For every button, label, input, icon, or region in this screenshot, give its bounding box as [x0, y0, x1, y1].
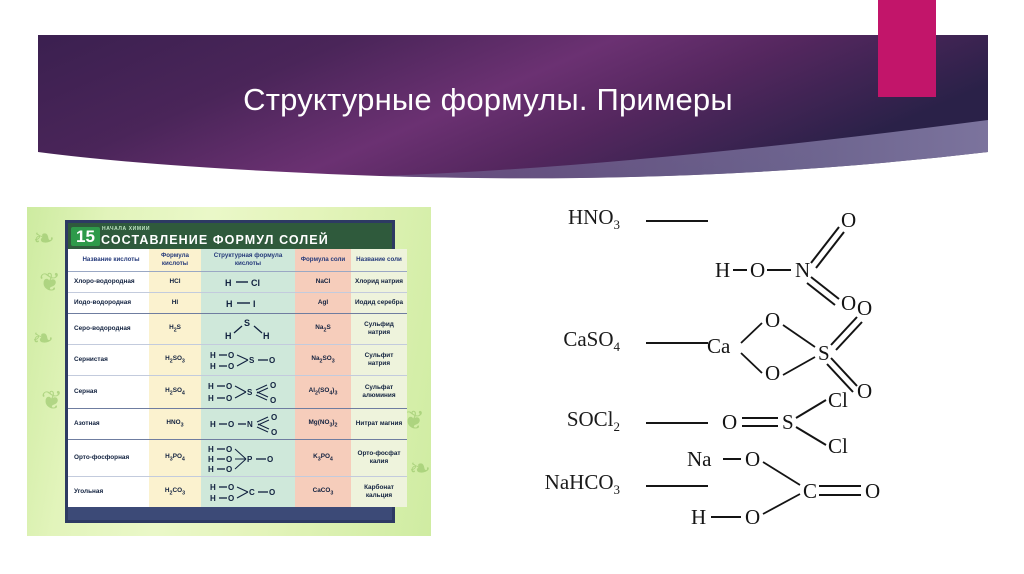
atom-o-lower: O — [745, 505, 760, 529]
vine-decoration-right: ❧ — [409, 455, 431, 481]
structure-h2so3-icon: H O H O S O — [204, 348, 292, 372]
svg-text:O: O — [269, 488, 275, 497]
cell-salt-formula: NaCl — [295, 271, 351, 292]
table-row: Хлоро-водородная HCl H Cl NaCl Хлорид на… — [68, 271, 407, 292]
cell-structural-formula: H O H O C O — [201, 476, 295, 507]
example-formula-hno3: HNO3 — [470, 205, 620, 233]
svg-text:H: H — [226, 299, 233, 309]
sodium-bicarbonate-structure: Na O H O C O — [685, 444, 900, 534]
svg-text:O: O — [226, 455, 232, 464]
table-header-row: Название кислоты Формула кислоты Структу… — [68, 249, 407, 271]
svg-text:O: O — [228, 494, 234, 503]
example-dash — [646, 220, 708, 222]
cell-acid-formula: HNO3 — [149, 408, 201, 439]
cell-salt-name: Сульфид натрия — [351, 313, 407, 344]
svg-text:O: O — [228, 362, 234, 371]
title-banner: Структурные формулы. Примеры — [0, 0, 1024, 185]
cell-acid-formula: H2SO3 — [149, 344, 201, 375]
structure-h2s-icon: S H H — [209, 317, 287, 341]
atom-s: S — [818, 341, 830, 365]
table-row: Орто-фосфорная H3PO4 H O H O H O — [68, 439, 407, 476]
cell-acid-name: Сернистая — [68, 344, 149, 375]
svg-text:H: H — [210, 351, 216, 360]
structure-hi-icon: H I — [209, 296, 287, 310]
atom-c: C — [803, 479, 817, 503]
salt-formula-table-image: ❧ ❦ ❧ ❦ ❦ ❧ 15 НАЧАЛА ХИМИИ СОСТАВЛЕНИЕ … — [27, 207, 431, 536]
svg-text:S: S — [244, 318, 250, 328]
atom-n: N — [795, 258, 810, 282]
svg-text:O: O — [228, 483, 234, 492]
svg-text:O: O — [226, 465, 232, 473]
cell-salt-name: Хлорид натрия — [351, 271, 407, 292]
atom-s: S — [782, 410, 794, 434]
structure-h3po4-icon: H O H O H O P — [204, 443, 292, 473]
cell-acid-name: Хлоро-водородная — [68, 271, 149, 292]
cell-structural-formula: S H H — [201, 313, 295, 344]
example-dash — [646, 342, 708, 344]
table-row: Серная H2SO4 H O H O S — [68, 375, 407, 408]
cell-acid-formula: H3PO4 — [149, 439, 201, 476]
column-header-structural: Структурная формула кислоты — [201, 249, 295, 271]
cell-acid-formula: HCl — [149, 271, 201, 292]
svg-text:O: O — [228, 420, 234, 429]
table-row: Угольная H2CO3 H O H O C — [68, 476, 407, 507]
cell-structural-formula: H O H O S O — [201, 344, 295, 375]
atom-o-top: O — [841, 208, 856, 232]
svg-text:H: H — [210, 483, 216, 492]
example-formula-socl2: SOCl2 — [470, 407, 620, 435]
cell-structural-formula: H O N O O — [201, 408, 295, 439]
structure-hcl-icon: H Cl — [209, 275, 287, 289]
cell-acid-name: Угольная — [68, 476, 149, 507]
vine-decoration-left: ❧ — [32, 325, 54, 351]
svg-text:C: C — [249, 488, 255, 497]
structure-hno3-icon: H O N O O — [204, 412, 292, 436]
cell-salt-formula: CaCO3 — [295, 476, 351, 507]
svg-text:H: H — [210, 494, 216, 503]
table-header-bar: 15 НАЧАЛА ХИМИИ СОСТАВЛЕНИЕ ФОРМУЛ СОЛЕЙ — [68, 223, 392, 249]
cell-structural-formula: H I — [201, 292, 295, 313]
svg-text:H: H — [208, 455, 214, 464]
svg-text:O: O — [270, 381, 276, 390]
cell-acid-name: Серная — [68, 375, 149, 408]
column-header-acid-name: Название кислоты — [68, 249, 149, 271]
atom-h: H — [715, 258, 730, 282]
svg-text:I: I — [253, 299, 256, 309]
cell-salt-formula: K3PO4 — [295, 439, 351, 476]
cell-salt-formula: Al2(SO4)3 — [295, 375, 351, 408]
vine-decoration-left: ❦ — [39, 269, 61, 295]
cell-acid-name: Орто-фосфорная — [68, 439, 149, 476]
table-number-badge: 15 — [71, 227, 100, 246]
svg-text:H: H — [208, 382, 214, 391]
svg-text:N: N — [247, 420, 253, 429]
svg-text:P: P — [247, 455, 253, 464]
atom-o: O — [750, 258, 765, 282]
table-title: СОСТАВЛЕНИЕ ФОРМУЛ СОЛЕЙ — [101, 233, 329, 247]
table-row: Азотная HNO3 H O N O — [68, 408, 407, 439]
svg-text:O: O — [226, 382, 232, 391]
cell-acid-formula: H2CO3 — [149, 476, 201, 507]
example-dash — [646, 422, 708, 424]
svg-text:H: H — [263, 331, 270, 341]
svg-text:H: H — [208, 465, 214, 473]
calcium-sulfate-structure: Ca O O S O O — [705, 295, 890, 405]
cell-salt-name: Иодид серебра — [351, 292, 407, 313]
svg-text:H: H — [208, 445, 214, 454]
atom-o-lower: O — [765, 361, 780, 385]
atom-o-upper: O — [745, 447, 760, 471]
cell-acid-formula: HI — [149, 292, 201, 313]
atom-o-right: O — [865, 479, 880, 503]
structural-formula-examples: HNO3 H O N O O CaSO4 — [470, 205, 1000, 535]
cell-acid-name: Иодо-водородная — [68, 292, 149, 313]
cell-structural-formula: H O H O H O P — [201, 439, 295, 476]
acids-salts-table: Название кислоты Формула кислоты Структу… — [68, 249, 407, 507]
vine-decoration-left: ❧ — [33, 225, 55, 251]
atom-cl-upper: Cl — [828, 391, 848, 412]
svg-text:O: O — [271, 413, 277, 422]
cell-acid-name: Серо-водородная — [68, 313, 149, 344]
atom-ca: Ca — [707, 334, 731, 358]
table-row: Серо-водородная H2S S H H Na2S Сульфид н… — [68, 313, 407, 344]
table-card: 15 НАЧАЛА ХИМИИ СОСТАВЛЕНИЕ ФОРМУЛ СОЛЕЙ… — [65, 220, 395, 523]
structure-h2so4-icon: H O H O S O — [204, 379, 292, 405]
cell-salt-name: Нитрат магния — [351, 408, 407, 439]
table-series-label: НАЧАЛА ХИМИИ — [102, 226, 150, 232]
cell-salt-formula: Mg(NO3)2 — [295, 408, 351, 439]
column-header-salt-formula: Формула соли — [295, 249, 351, 271]
page-title: Структурные формулы. Примеры — [38, 82, 938, 118]
vine-decoration-left: ❦ — [41, 387, 63, 413]
svg-text:S: S — [249, 356, 255, 365]
cell-acid-formula: H2SO4 — [149, 375, 201, 408]
svg-text:H: H — [210, 362, 216, 371]
atom-o-top: O — [857, 296, 872, 320]
svg-text:Cl: Cl — [251, 278, 260, 288]
table-row: Сернистая H2SO3 H O H O S — [68, 344, 407, 375]
structure-h2co3-icon: H O H O C O — [204, 480, 292, 504]
cell-salt-name: Сульфат алюминия — [351, 375, 407, 408]
cell-salt-name: Орто-фосфат калия — [351, 439, 407, 476]
cell-salt-name: Сульфит натрия — [351, 344, 407, 375]
atom-h: H — [691, 505, 706, 529]
svg-text:O: O — [271, 428, 277, 436]
atom-o: O — [722, 410, 737, 434]
svg-text:S: S — [247, 388, 253, 397]
cell-structural-formula: H O H O S O — [201, 375, 295, 408]
cell-salt-formula: AgI — [295, 292, 351, 313]
svg-text:H: H — [208, 394, 214, 403]
svg-text:H: H — [225, 278, 232, 288]
svg-text:O: O — [228, 351, 234, 360]
svg-text:O: O — [267, 455, 273, 464]
cell-salt-name: Карбонат кальция — [351, 476, 407, 507]
atom-na: Na — [687, 447, 712, 471]
cell-structural-formula: H Cl — [201, 271, 295, 292]
svg-text:O: O — [226, 394, 232, 403]
column-header-acid-formula: Формула кислоты — [149, 249, 201, 271]
example-formula-nahco3: NaHCO3 — [470, 470, 620, 498]
diagram-nahco3: Na O H O C O — [685, 444, 900, 539]
example-formula-caso4: CaSO4 — [470, 327, 620, 355]
atom-o-upper: O — [765, 308, 780, 332]
svg-text:O: O — [270, 396, 276, 405]
svg-text:O: O — [269, 356, 275, 365]
column-header-salt-name: Название соли — [351, 249, 407, 271]
cell-salt-formula: Na2S — [295, 313, 351, 344]
cell-salt-formula: Na2SO3 — [295, 344, 351, 375]
svg-text:H: H — [210, 420, 216, 429]
svg-text:O: O — [226, 445, 232, 454]
cell-acid-formula: H2S — [149, 313, 201, 344]
cell-acid-name: Азотная — [68, 408, 149, 439]
svg-text:H: H — [225, 331, 232, 341]
table-row: Иодо-водородная HI H I AgI Иодид серебра — [68, 292, 407, 313]
